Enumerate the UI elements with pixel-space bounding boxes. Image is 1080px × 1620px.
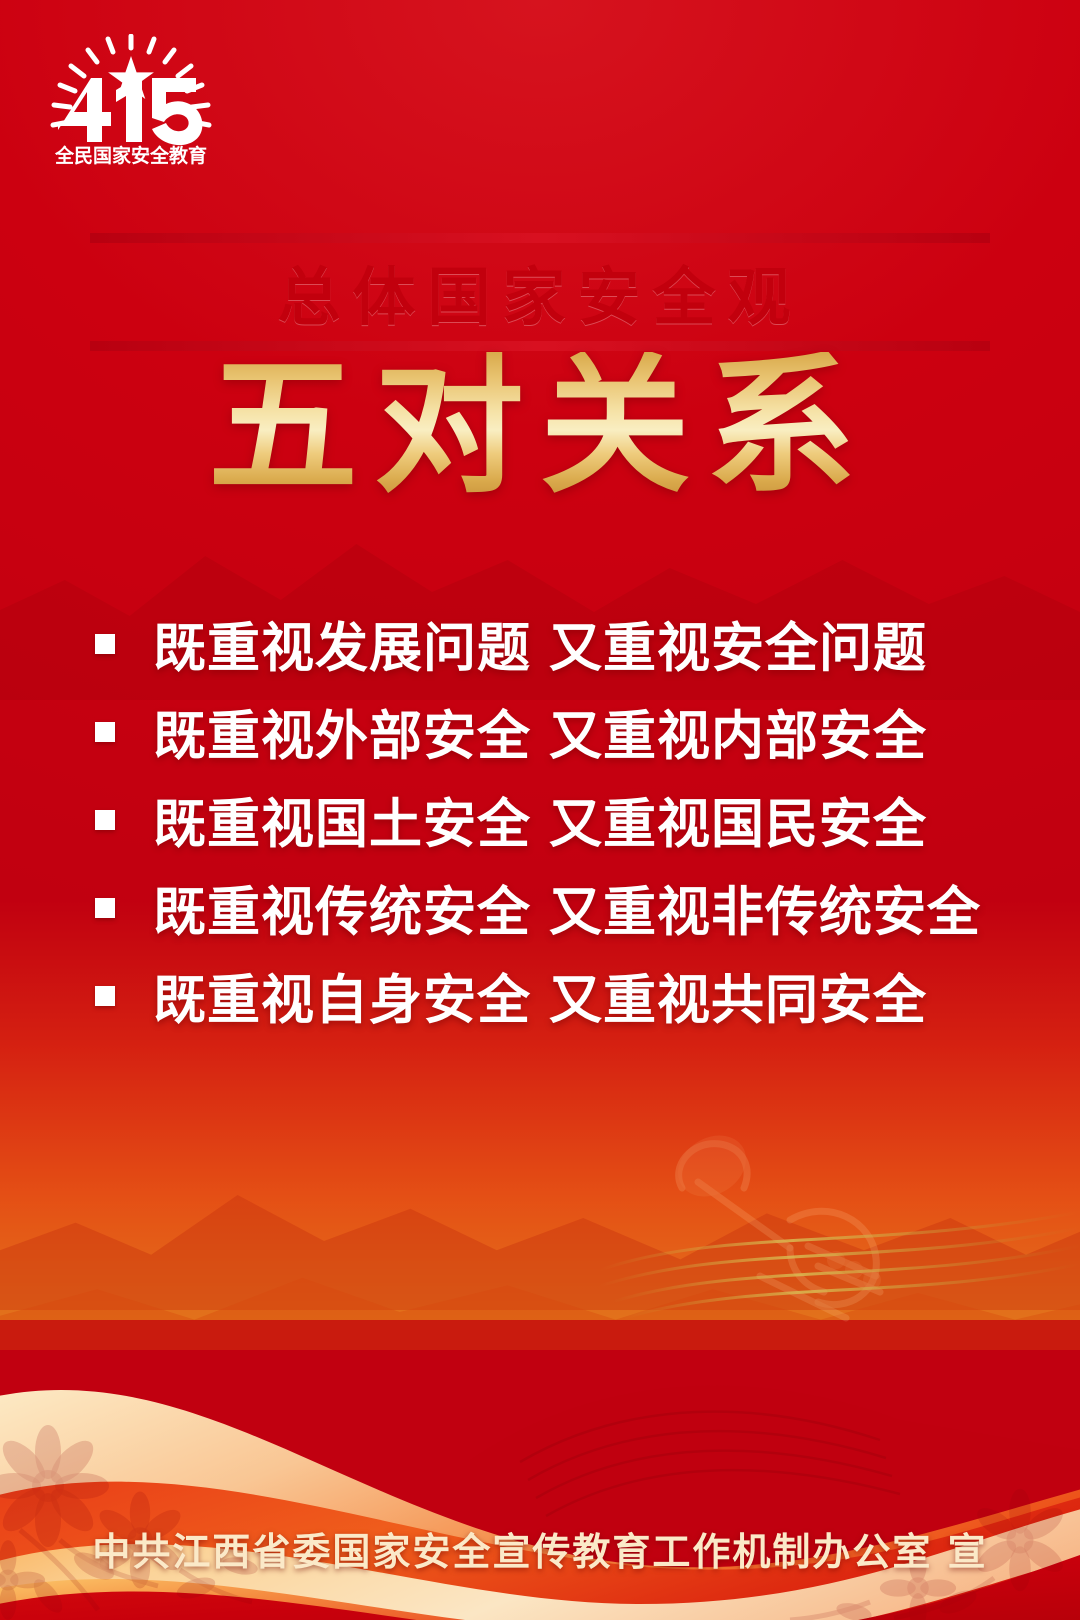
national-security-education-day-logo: 全民国家安全教育 bbox=[38, 34, 224, 166]
white-square-bullet-icon bbox=[95, 722, 115, 742]
list-item: 既重视外部安全又重视内部安全 bbox=[95, 688, 985, 776]
list-item: 既重视传统安全又重视非传统安全 bbox=[95, 864, 985, 952]
banner-edge-top bbox=[90, 233, 990, 243]
list-item: 既重视发展问题又重视安全问题 bbox=[95, 600, 985, 688]
list-item: 既重视自身安全又重视共同安全 bbox=[95, 952, 985, 1040]
white-square-bullet-icon bbox=[95, 898, 115, 918]
page-title: 五对关系 bbox=[0, 352, 1080, 502]
poster-root: 全民国家安全教育 总体国家安全观 五对关系 既重视发展问题又重视安全问题 既重视… bbox=[0, 0, 1080, 1620]
list-item-label: 既重视外部安全又重视内部安全 bbox=[153, 694, 927, 770]
footer-attribution: 中共江西省委国家安全宣传教育工作机制办公室 宣 bbox=[0, 1521, 1080, 1576]
logo-caption: 全民国家安全教育 bbox=[54, 144, 207, 166]
banner-title-text: 总体国家安全观 bbox=[90, 243, 990, 341]
list-item-label: 既重视传统安全又重视非传统安全 bbox=[153, 870, 981, 946]
relations-list: 既重视发展问题又重视安全问题 既重视外部安全又重视内部安全 既重视国土安全又重视… bbox=[95, 600, 985, 1040]
list-item-label: 既重视自身安全又重视共同安全 bbox=[153, 958, 927, 1034]
logo-number-415 bbox=[58, 78, 202, 145]
list-item-label: 既重视国土安全又重视国民安全 bbox=[153, 782, 927, 858]
list-item: 既重视国土安全又重视国民安全 bbox=[95, 776, 985, 864]
subtitle-banner: 总体国家安全观 bbox=[90, 243, 990, 341]
list-item-label: 既重视发展问题又重视安全问题 bbox=[153, 606, 927, 682]
white-square-bullet-icon bbox=[95, 810, 115, 830]
white-square-bullet-icon bbox=[95, 986, 115, 1006]
white-square-bullet-icon bbox=[95, 634, 115, 654]
